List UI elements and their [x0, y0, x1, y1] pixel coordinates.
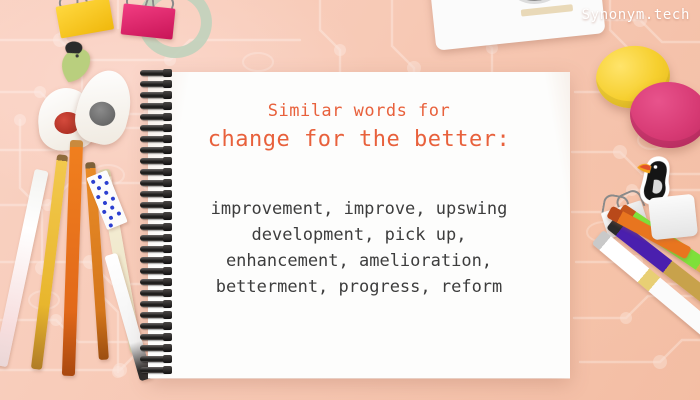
- glue-bottle: [648, 194, 698, 241]
- brand-logo[interactable]: Synonym.tech: [582, 7, 690, 23]
- screenshot-canvas: Similar words for change for the better:…: [0, 0, 700, 400]
- synonym-line: development, pick up,: [148, 222, 570, 248]
- clip-body: [121, 3, 176, 39]
- eraser-pit: [87, 99, 118, 129]
- pink-binder-clip: [120, 3, 175, 40]
- camera-grill: [521, 4, 573, 16]
- synonym-line: betterment, progress, reform: [148, 274, 570, 300]
- card-heading-line1: Similar words for: [148, 100, 570, 122]
- synonym-line: enhancement, amelioration,: [148, 248, 570, 274]
- card-heading-line2: change for the better:: [148, 126, 570, 154]
- synonym-list: improvement, improve, upswing developmen…: [148, 196, 570, 300]
- bird-eraser: [52, 34, 102, 86]
- synonym-line: improvement, improve, upswing: [148, 196, 570, 222]
